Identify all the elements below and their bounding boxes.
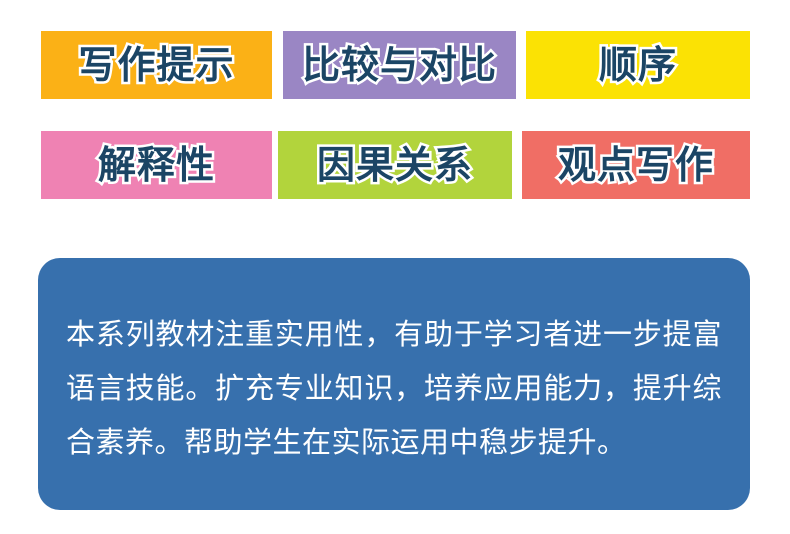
tag-label: 顺序 bbox=[599, 46, 677, 84]
tag-opinion-writing[interactable]: 观点写作 bbox=[522, 131, 750, 199]
tag-label: 因果关系 bbox=[317, 146, 473, 184]
poster-page: 写作提示 比较与对比 顺序 解释性 因果关系 观点写作 本系列教材注重实用性，有… bbox=[0, 0, 790, 534]
tag-label: 观点写作 bbox=[558, 146, 714, 184]
tag-compare-contrast[interactable]: 比较与对比 bbox=[283, 31, 516, 99]
description-text: 本系列教材注重实用性，有助于学习者进一步提富语言技能。扩充专业知识，培养应用能力… bbox=[66, 307, 722, 469]
tag-explanatory[interactable]: 解释性 bbox=[41, 131, 272, 199]
tag-label: 解释性 bbox=[98, 146, 215, 184]
tag-writing-prompt[interactable]: 写作提示 bbox=[41, 31, 272, 99]
tag-sequence[interactable]: 顺序 bbox=[526, 31, 750, 99]
tag-label: 写作提示 bbox=[78, 46, 234, 84]
description-panel: 本系列教材注重实用性，有助于学习者进一步提富语言技能。扩充专业知识，培养应用能力… bbox=[38, 258, 750, 510]
tag-cause-effect[interactable]: 因果关系 bbox=[278, 131, 512, 199]
tag-label: 比较与对比 bbox=[302, 46, 497, 84]
